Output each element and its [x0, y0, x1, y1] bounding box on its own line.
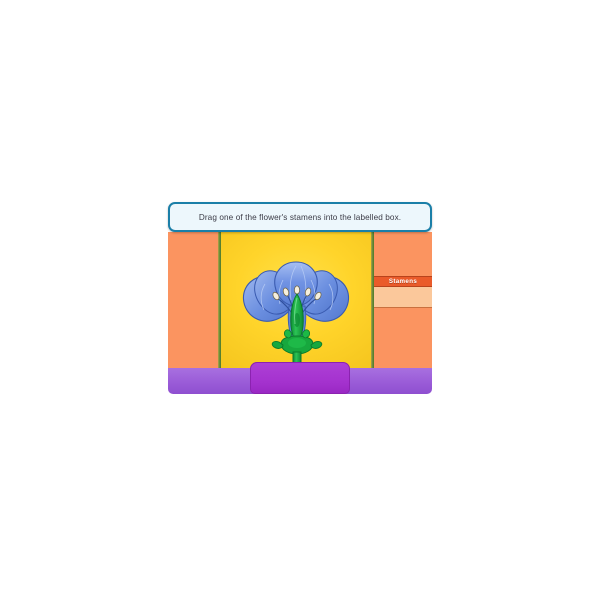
panel-rule-bottom	[374, 307, 432, 308]
stamens-label-text: Stamens	[389, 278, 417, 285]
anther[interactable]	[294, 286, 299, 294]
stamens-drop-zone[interactable]	[374, 287, 432, 307]
stamens-label-band: Stamens	[374, 276, 432, 287]
right-orange-panel: Stamens	[374, 232, 432, 368]
flower-stage	[221, 232, 371, 368]
activity-scene: Stamens	[168, 232, 432, 368]
blue-lily-flower[interactable]	[221, 232, 371, 368]
left-orange-panel	[168, 232, 218, 368]
activity-frame: Drag one of the flower's stamens into th…	[166, 200, 434, 396]
instruction-banner: Drag one of the flower's stamens into th…	[168, 202, 432, 232]
instruction-text: Drag one of the flower's stamens into th…	[199, 213, 401, 222]
control-bar	[168, 368, 432, 394]
control-bar-center-panel[interactable]	[250, 362, 350, 394]
